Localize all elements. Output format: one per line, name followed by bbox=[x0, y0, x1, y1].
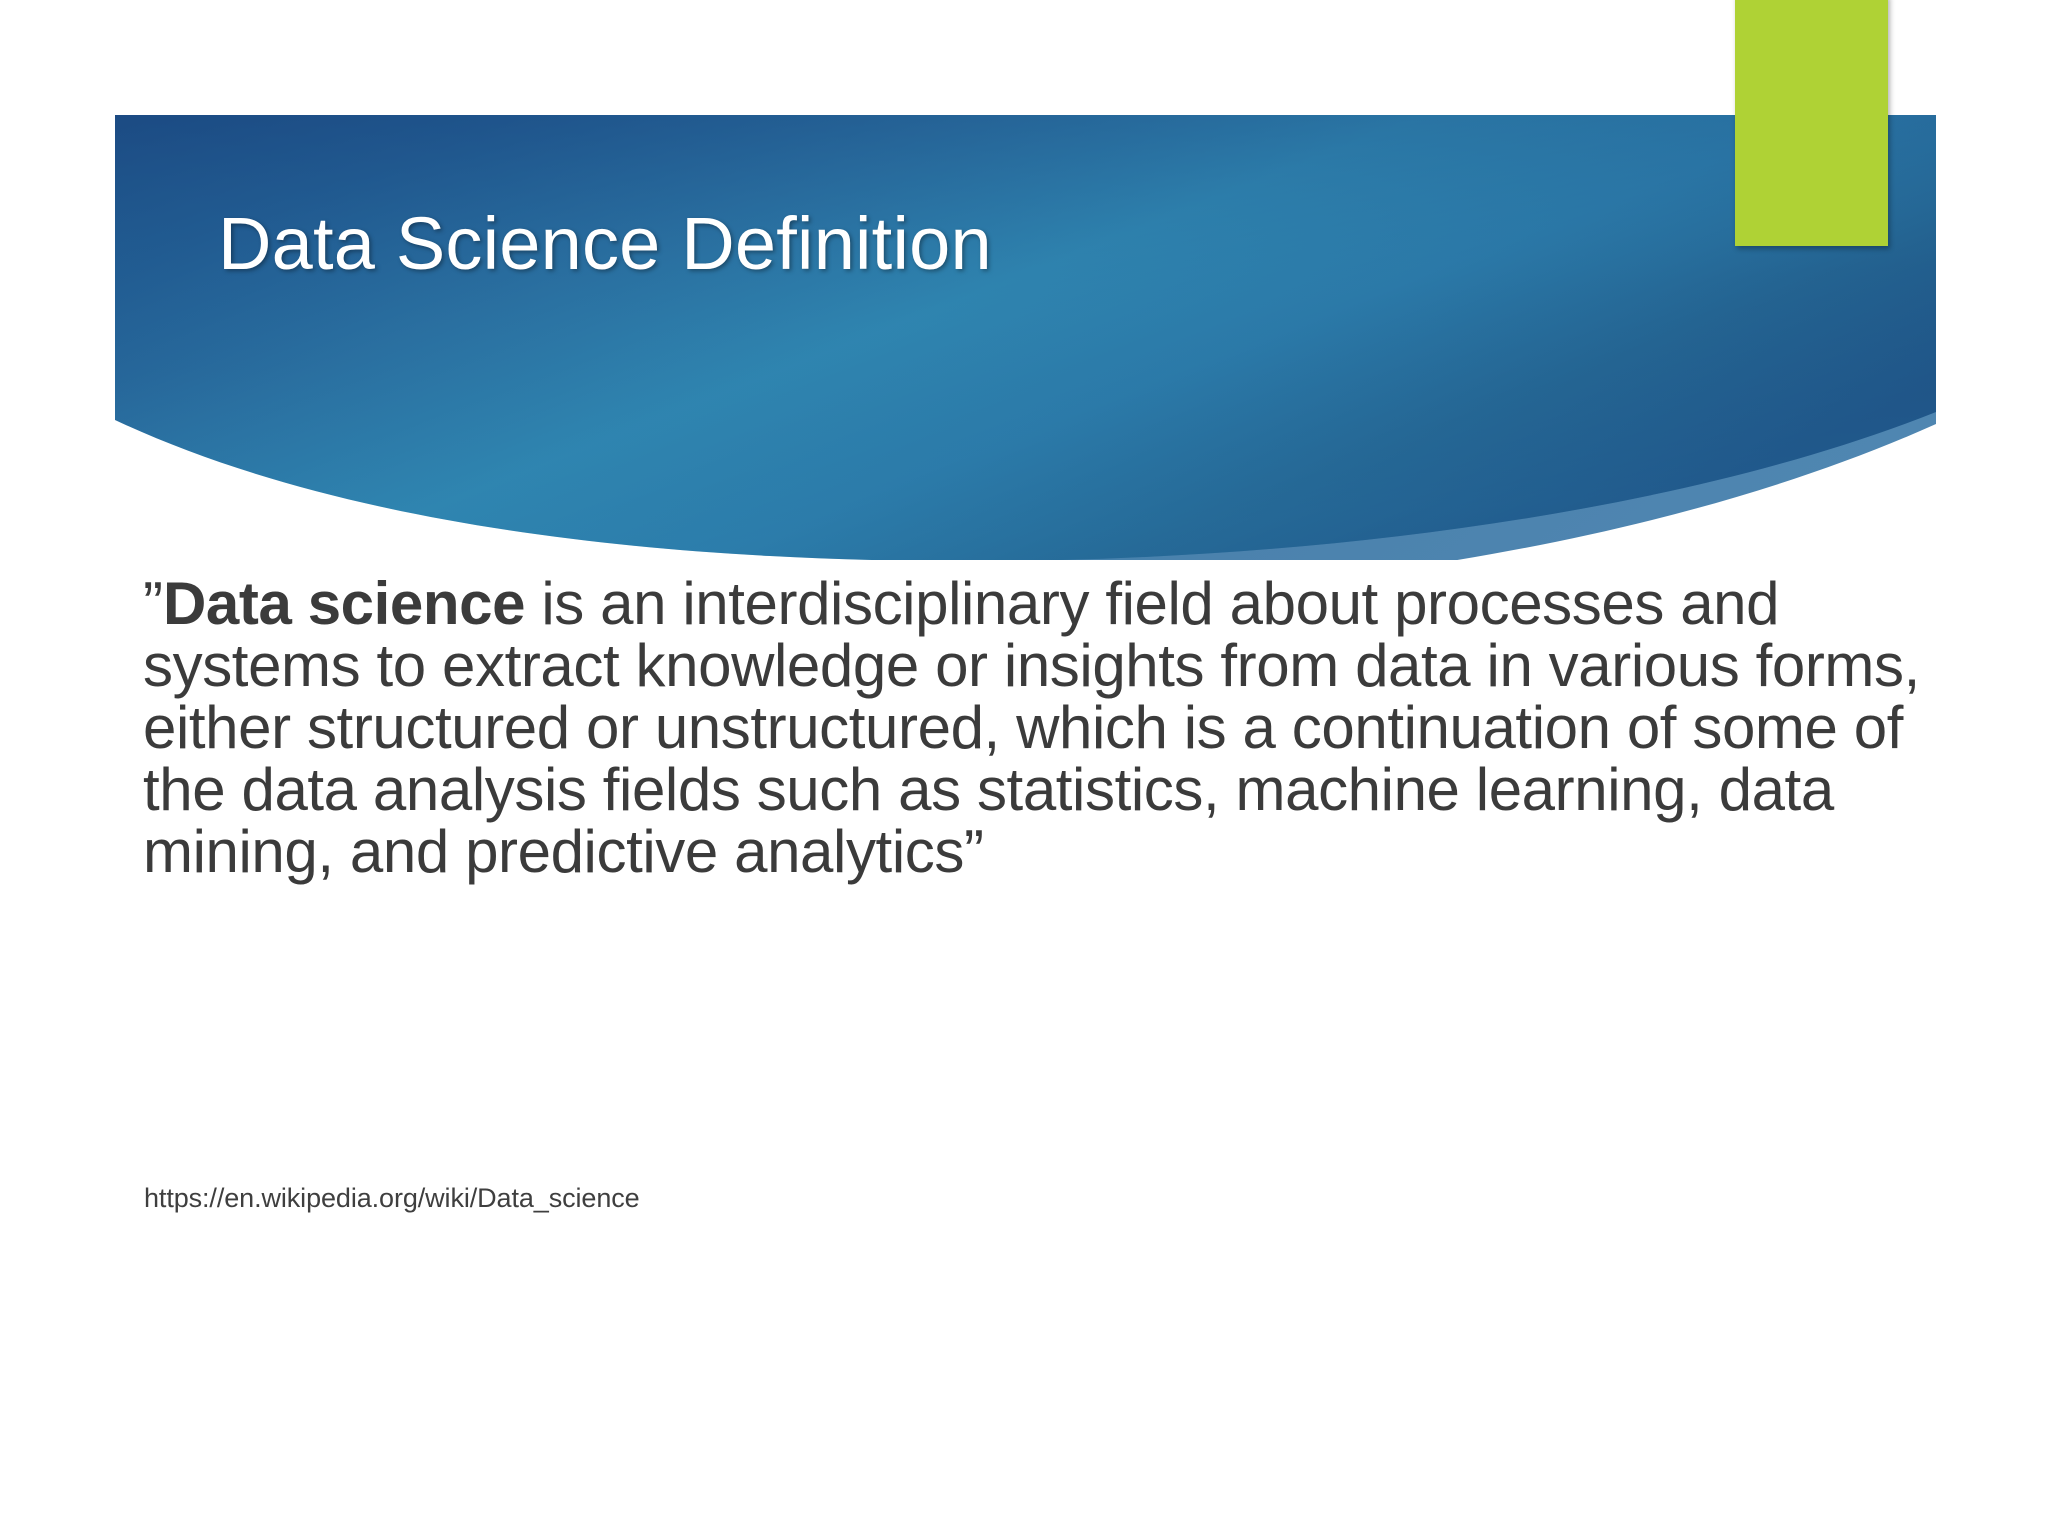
slide-canvas: Data Science Definition ”Data science is… bbox=[0, 0, 2048, 1536]
quote-block: ”Data science is an interdisciplinary fi… bbox=[143, 573, 1943, 883]
source-url-text: https://en.wikipedia.org/wiki/Data_scien… bbox=[144, 1183, 640, 1214]
page-title: Data Science Definition bbox=[218, 205, 992, 283]
green-accent-rectangle bbox=[1735, 0, 1888, 246]
quote-text: ”Data science is an interdisciplinary fi… bbox=[143, 573, 1943, 883]
quote-lead-bold: Data science bbox=[163, 570, 525, 637]
quote-open-mark: ” bbox=[143, 570, 163, 637]
